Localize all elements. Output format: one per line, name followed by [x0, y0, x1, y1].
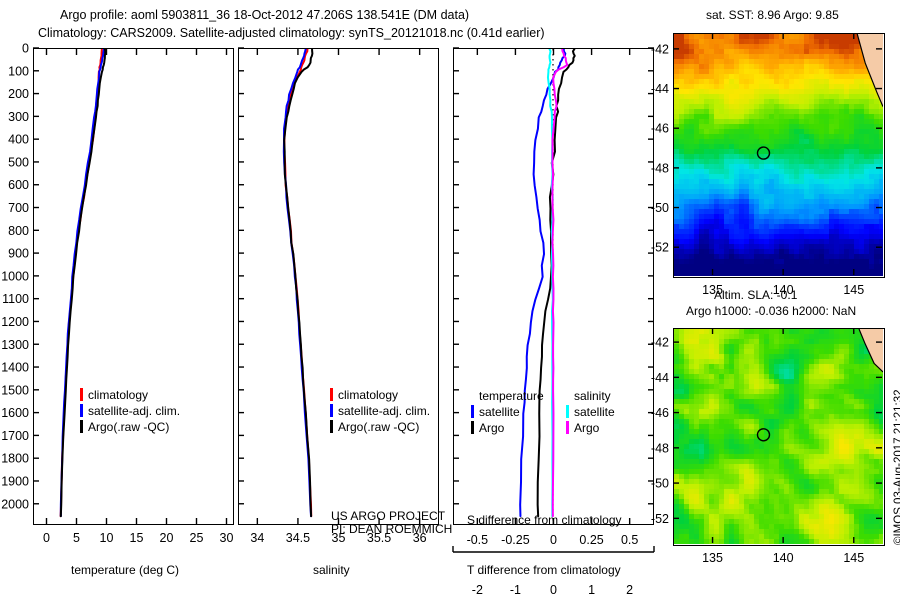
svg-text:1900: 1900: [1, 474, 29, 488]
svg-text:0: 0: [550, 583, 557, 597]
difference-legend-salinity: salinitysatelliteArgo: [566, 389, 615, 437]
sst-map[interactable]: [673, 33, 885, 278]
sla-map-title-line2: Argo h1000: -0.036 h2000: NaN: [686, 304, 856, 318]
svg-text:25: 25: [190, 531, 204, 545]
legend-color-swatch: [330, 404, 333, 417]
legend-item: satellite: [566, 405, 615, 419]
legend-item: climatology: [330, 388, 430, 402]
legend-label: Argo: [574, 421, 599, 435]
svg-text:600: 600: [8, 178, 29, 192]
sst-map-canvas: [674, 34, 883, 276]
temperature-profile-panel: [33, 48, 234, 525]
salinity-profile-panel: [238, 48, 439, 525]
legend-color-swatch: [80, 388, 83, 401]
temperature-xaxis-label: temperature (deg C): [71, 563, 179, 577]
svg-text:-1: -1: [510, 583, 521, 597]
difference-profile-panel: [453, 48, 654, 525]
legend-label: satellite: [479, 405, 520, 419]
legend-label: Argo: [479, 421, 504, 435]
temperature-difference-axis-label: T difference from climatology: [467, 563, 621, 577]
salinity-profile-plot: [239, 49, 437, 523]
legend-item: climatology: [80, 388, 180, 402]
svg-text:34: 34: [250, 531, 264, 545]
legend-group-header: salinity: [574, 389, 615, 403]
svg-text:15: 15: [130, 531, 144, 545]
sst-map-title: sat. SST: 8.96 Argo: 9.85: [706, 8, 839, 22]
svg-text:-0.25: -0.25: [501, 533, 530, 547]
svg-text:800: 800: [8, 224, 29, 238]
svg-text:100: 100: [8, 64, 29, 78]
svg-text:1800: 1800: [1, 452, 29, 466]
svg-text:1500: 1500: [1, 383, 29, 397]
legend-item: Argo(.raw -QC): [80, 420, 180, 434]
svg-text:145: 145: [843, 283, 864, 297]
legend-item: satellite: [471, 405, 544, 419]
svg-text:200: 200: [8, 87, 29, 101]
plot-title-line2: Climatology: CARS2009. Satellite-adjuste…: [38, 26, 545, 40]
legend-color-swatch: [566, 405, 569, 418]
legend-color-swatch: [471, 405, 474, 418]
sla-map-canvas: [674, 329, 883, 544]
svg-text:1600: 1600: [1, 406, 29, 420]
svg-text:700: 700: [8, 201, 29, 215]
svg-text:500: 500: [8, 155, 29, 169]
svg-text:2000: 2000: [1, 497, 29, 511]
svg-text:1: 1: [588, 583, 595, 597]
svg-text:1200: 1200: [1, 315, 29, 329]
svg-text:-2: -2: [472, 583, 483, 597]
temperature-profile-plot: [34, 49, 232, 523]
pi-label: PI: DEAN ROEMMICH: [331, 522, 452, 536]
copyright-label: ©IMOS 03-Aug-2017 21:21:32: [893, 545, 900, 557]
legend-color-swatch: [80, 404, 83, 417]
svg-text:400: 400: [8, 133, 29, 147]
difference-profile-plot: [454, 49, 652, 523]
legend-label: Argo(.raw -QC): [88, 420, 169, 434]
legend-item: satellite-adj. clim.: [80, 404, 180, 418]
svg-text:0: 0: [22, 42, 29, 56]
svg-text:-0.5: -0.5: [467, 533, 489, 547]
legend-color-swatch: [80, 420, 83, 433]
plot-title-line1: Argo profile: aoml 5903811_36 18-Oct-201…: [60, 8, 469, 22]
legend-group-header: temperature: [479, 389, 544, 403]
difference-legend-temperature: temperaturesatelliteArgo: [471, 389, 544, 437]
legend-item: Argo: [566, 421, 615, 435]
legend-color-swatch: [330, 420, 333, 433]
salinity-difference-axis-label: S difference from climatology: [467, 513, 622, 527]
svg-text:2: 2: [626, 583, 633, 597]
svg-text:0: 0: [550, 533, 557, 547]
svg-text:5: 5: [73, 531, 80, 545]
svg-text:1400: 1400: [1, 361, 29, 375]
legend-item: Argo: [471, 421, 544, 435]
svg-text:1700: 1700: [1, 429, 29, 443]
svg-text:135: 135: [702, 551, 723, 565]
svg-text:20: 20: [160, 531, 174, 545]
svg-text:1100: 1100: [2, 292, 29, 306]
legend-item: satellite-adj. clim.: [330, 404, 430, 418]
legend-color-swatch: [566, 421, 569, 434]
legend-color-swatch: [330, 388, 333, 401]
svg-text:0.5: 0.5: [621, 533, 638, 547]
salinity-xaxis-label: salinity: [313, 563, 350, 577]
temperature-legend: climatologysatellite-adj. clim.Argo(.raw…: [80, 388, 180, 436]
sla-map[interactable]: [673, 328, 885, 546]
salinity-legend: climatologysatellite-adj. clim.Argo(.raw…: [330, 388, 430, 436]
svg-text:34.5: 34.5: [286, 531, 310, 545]
svg-text:1000: 1000: [1, 269, 29, 283]
legend-label: satellite-adj. clim.: [338, 404, 430, 418]
svg-text:900: 900: [8, 247, 29, 261]
svg-text:1300: 1300: [1, 338, 29, 352]
svg-text:140: 140: [773, 551, 794, 565]
svg-text:10: 10: [100, 531, 114, 545]
legend-item: Argo(.raw -QC): [330, 420, 430, 434]
svg-text:145: 145: [843, 551, 864, 565]
legend-color-swatch: [471, 421, 474, 434]
sla-map-title-line1: Altim. SLA: -0.1: [714, 288, 797, 302]
svg-text:30: 30: [220, 531, 234, 545]
svg-text:0: 0: [43, 531, 50, 545]
us-argo-project-label: US ARGO PROJECT: [331, 509, 445, 523]
svg-text:300: 300: [8, 110, 29, 124]
legend-label: satellite: [574, 405, 615, 419]
legend-label: satellite-adj. clim.: [88, 404, 180, 418]
legend-label: climatology: [88, 388, 148, 402]
svg-text:0.25: 0.25: [579, 533, 603, 547]
legend-label: Argo(.raw -QC): [338, 420, 419, 434]
legend-label: climatology: [338, 388, 398, 402]
